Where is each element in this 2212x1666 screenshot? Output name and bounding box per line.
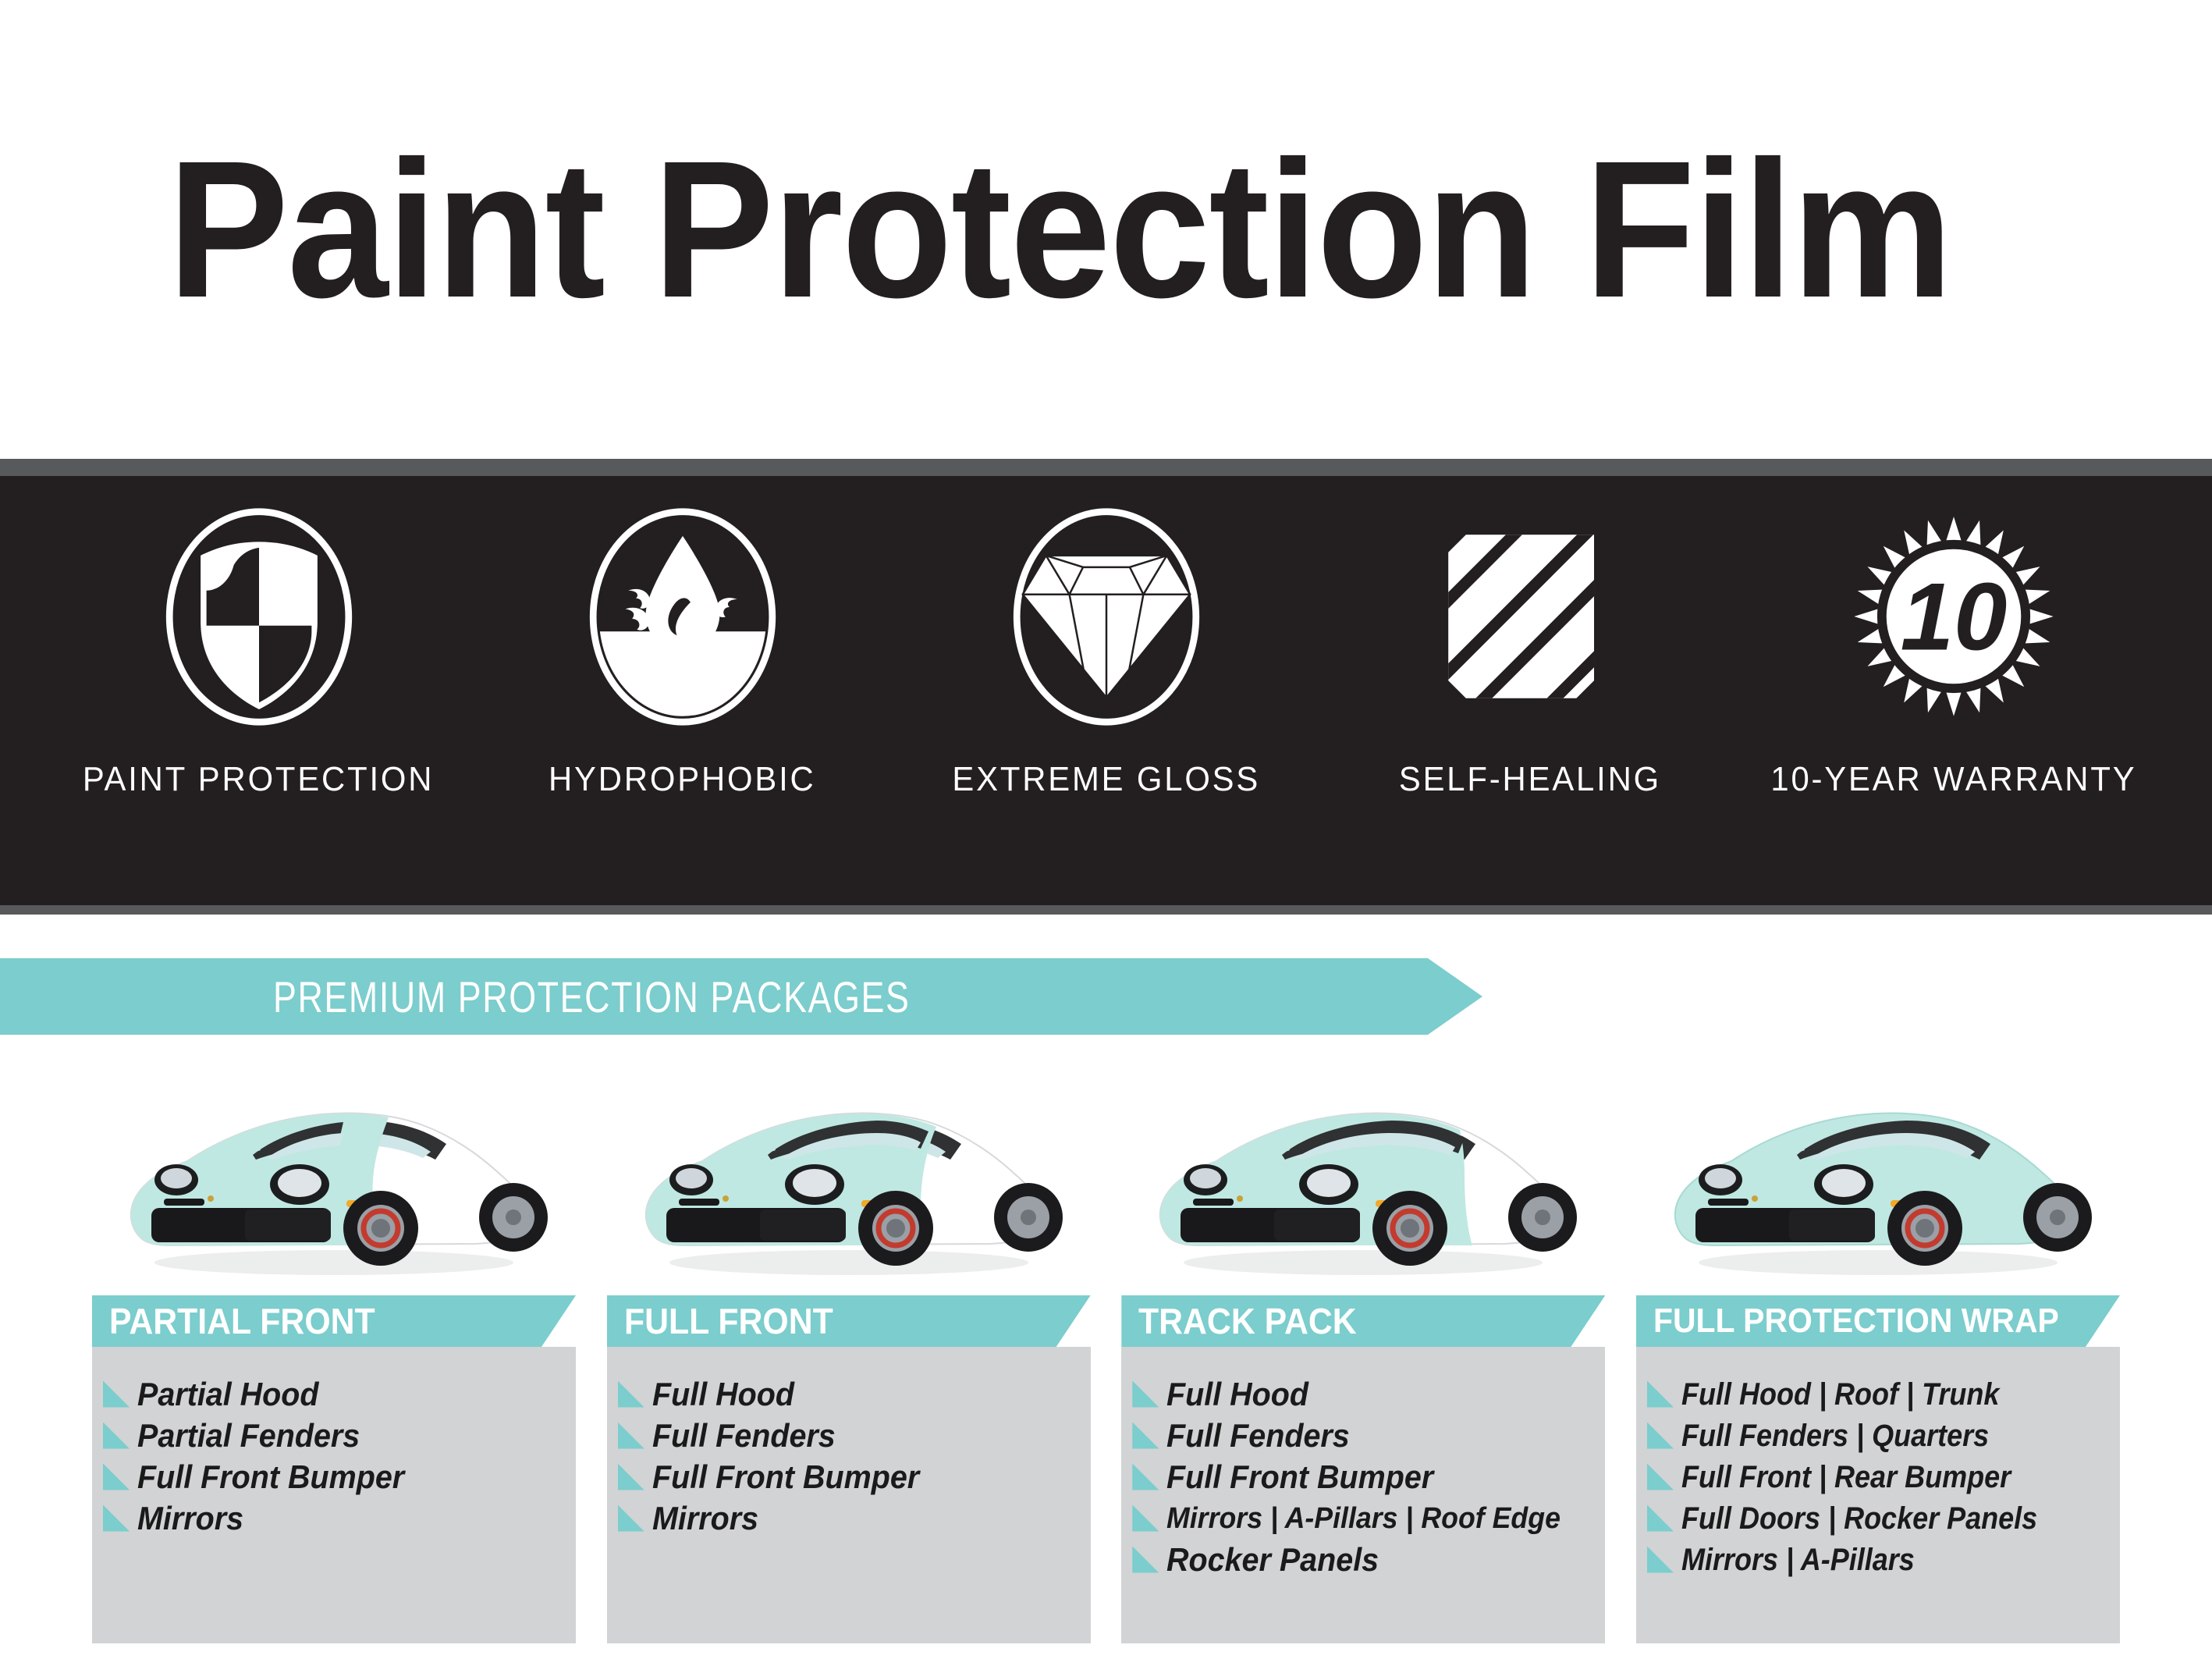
diagonal-stripes-icon (1441, 499, 1619, 734)
list-item: Full Fenders | Quarters (1647, 1415, 2106, 1456)
feature-label: SELF-HEALING (1398, 760, 1660, 799)
bullet-triangle-icon (618, 1505, 644, 1532)
bullet-triangle-icon (103, 1423, 130, 1449)
bullet-triangle-icon (618, 1464, 644, 1490)
banner-label: PREMIUM PROTECTION PACKAGES (273, 972, 911, 1022)
package-card-track-pack[interactable]: TRACK PACK Full Hood Full Fenders Full F… (1121, 1061, 1605, 1639)
package-card-full-front[interactable]: FULL FRONT Full Hood Full Fenders Full F… (607, 1061, 1091, 1639)
bullet-triangle-icon (618, 1381, 644, 1408)
bullet-triangle-icon (103, 1464, 130, 1490)
package-title: PARTIAL FRONT (109, 1300, 375, 1342)
car-image-track-pack (1121, 1061, 1605, 1295)
list-item: Full Front Bumper (103, 1456, 562, 1497)
feature-label: HYDROPHOBIC (549, 760, 816, 799)
bullet-triangle-icon (1647, 1505, 1674, 1532)
warranty-number: 10 (1900, 564, 2007, 671)
bullet-triangle-icon (618, 1423, 644, 1449)
bullet-triangle-icon (1647, 1464, 1674, 1490)
list-item: Mirrors | A-Pillars (1647, 1539, 2106, 1580)
feature-label: EXTREME GLOSS (952, 760, 1260, 799)
list-item: Full Doors | Rocker Panels (1647, 1497, 2106, 1539)
list-item: Full Fenders (618, 1415, 1077, 1456)
package-header: FULL FRONT (607, 1295, 1091, 1347)
list-item: Mirrors | A-Pillars | Roof Edge (1132, 1497, 1591, 1539)
bullet-triangle-icon (103, 1381, 130, 1408)
list-item: Full Hood (1132, 1373, 1591, 1415)
feature-label: 10-YEAR WARRANTY (1770, 760, 2136, 799)
list-item: Full Hood | Roof | Trunk (1647, 1373, 2106, 1415)
package-header: PARTIAL FRONT (92, 1295, 576, 1347)
bullet-triangle-icon (1647, 1423, 1674, 1449)
bullet-triangle-icon (103, 1505, 130, 1532)
feature-hydrophobic: HYDROPHOBIC (470, 499, 894, 799)
water-droplet-icon (585, 499, 780, 734)
feature-extreme-gloss: EXTREME GLOSS (894, 499, 1318, 799)
page-title: Paint Protection Film (168, 137, 1951, 322)
bullet-triangle-icon (1132, 1464, 1159, 1490)
warranty-badge-icon: 10 (1852, 499, 2055, 734)
package-card-full-protection-wrap[interactable]: FULL PROTECTION WRAP Full Hood | Roof | … (1636, 1061, 2120, 1639)
feature-label: PAINT PROTECTION (83, 760, 434, 799)
list-item: Full Fenders (1132, 1415, 1591, 1456)
features-band: PAINT PROTECTION HYDROPHOBIC (0, 476, 2212, 905)
package-header: FULL PROTECTION WRAP (1636, 1295, 2120, 1347)
list-item: Rocker Panels (1132, 1539, 1591, 1580)
package-title: TRACK PACK (1138, 1300, 1357, 1342)
package-title: FULL FRONT (624, 1300, 833, 1342)
feature-warranty: 10 10-YEAR WARRANTY (1742, 499, 2165, 799)
package-items: Full Hood Full Fenders Full Front Bumper… (607, 1347, 1091, 1643)
shield-icon (162, 499, 357, 734)
bullet-triangle-icon (1132, 1381, 1159, 1408)
list-item: Full Front Bumper (618, 1456, 1077, 1497)
list-item: Mirrors (103, 1497, 562, 1539)
car-image-full-wrap (1636, 1061, 2120, 1295)
package-items: Full Hood Full Fenders Full Front Bumper… (1121, 1347, 1605, 1643)
feature-paint-protection: PAINT PROTECTION (47, 499, 470, 799)
package-header: TRACK PACK (1121, 1295, 1605, 1347)
car-image-partial-front (92, 1061, 576, 1295)
bullet-triangle-icon (1132, 1423, 1159, 1449)
list-item: Full Hood (618, 1373, 1077, 1415)
package-items: Partial Hood Partial Fenders Full Front … (92, 1347, 576, 1643)
diamond-icon (1009, 499, 1204, 734)
list-item: Full Front Bumper (1132, 1456, 1591, 1497)
premium-packages-banner: PREMIUM PROTECTION PACKAGES (0, 958, 1482, 1035)
list-item: Partial Hood (103, 1373, 562, 1415)
bullet-triangle-icon (1132, 1505, 1159, 1532)
bullet-triangle-icon (1647, 1381, 1674, 1408)
car-image-full-front (607, 1061, 1091, 1295)
list-item: Full Front | Rear Bumper (1647, 1456, 2106, 1497)
list-item: Mirrors (618, 1497, 1077, 1539)
package-title: FULL PROTECTION WRAP (1653, 1302, 2059, 1341)
package-items: Full Hood | Roof | Trunk Full Fenders | … (1636, 1347, 2120, 1643)
title-area: Paint Protection Film (0, 0, 2212, 459)
packages-row: PARTIAL FRONT Partial Hood Partial Fende… (0, 1061, 2212, 1639)
package-card-partial-front[interactable]: PARTIAL FRONT Partial Hood Partial Fende… (92, 1061, 576, 1639)
bullet-triangle-icon (1132, 1547, 1159, 1573)
bullet-triangle-icon (1647, 1547, 1674, 1573)
list-item: Partial Fenders (103, 1415, 562, 1456)
feature-self-healing: SELF-HEALING (1318, 499, 1742, 799)
